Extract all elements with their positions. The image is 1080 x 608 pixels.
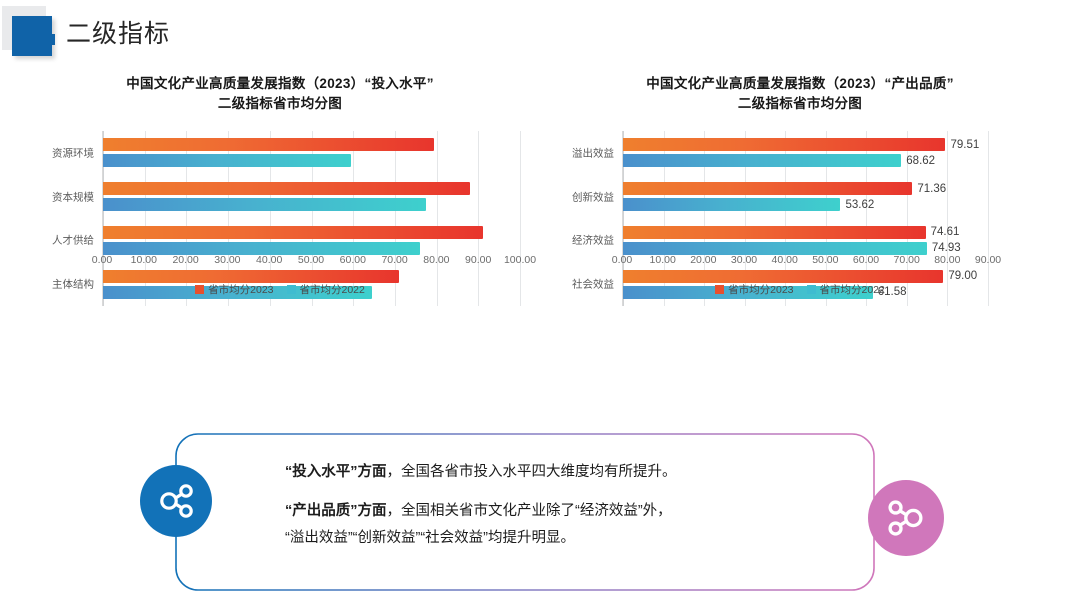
callout-section: “投入水平”方面，全国各省市投入水平四大维度均有所提升。 “产出品质”方面，全国… bbox=[140, 425, 960, 600]
legend-item[interactable]: 省市均分2023 bbox=[195, 282, 273, 297]
bar-省市均分2023 bbox=[103, 138, 434, 151]
bar-value-label: 74.93 bbox=[932, 242, 961, 254]
legend-label: 省市均分2023 bbox=[728, 282, 793, 297]
bar-省市均分2023 bbox=[623, 270, 943, 283]
category-axis-output-quality: 溢出效益创新效益经济效益社会效益 bbox=[550, 131, 618, 306]
axis-tick-label: 90.00 bbox=[465, 254, 491, 266]
callout-paragraph-2: “产出品质”方面，全国相关省市文化产业除了“经济效益”外， “溢出效益”“创新效… bbox=[285, 498, 845, 552]
bar-省市均分2023 bbox=[103, 182, 470, 195]
legend-label: 省市均分2022 bbox=[300, 282, 365, 297]
axis-tick-label: 30.00 bbox=[214, 254, 240, 266]
logo-dot-icon bbox=[44, 34, 55, 45]
axis-tick-label: 10.00 bbox=[131, 254, 157, 266]
page-header: 二级指标 bbox=[0, 0, 1080, 62]
category-label: 人才供给 bbox=[52, 233, 94, 248]
callout-p1-bold: “投入水平”方面 bbox=[285, 464, 387, 480]
chart-title-line-2: 二级指标省市均分图 bbox=[30, 94, 530, 114]
legend-item[interactable]: 省市均分2022 bbox=[287, 282, 365, 297]
bar-省市均分2023 bbox=[103, 226, 483, 239]
axis-tick-label: 80.00 bbox=[934, 254, 960, 266]
axis-tick-label: 40.00 bbox=[772, 254, 798, 266]
gridline bbox=[437, 131, 438, 306]
axis-tick-label: 60.00 bbox=[853, 254, 879, 266]
axis-tick-label: 50.00 bbox=[298, 254, 324, 266]
bar-value-label: 74.61 bbox=[931, 226, 960, 238]
gridline bbox=[520, 131, 521, 306]
category-label: 经济效益 bbox=[572, 233, 614, 248]
axis-tick-label: 80.00 bbox=[423, 254, 449, 266]
bar-value-label: 53.62 bbox=[845, 199, 874, 211]
share-nodes-icon-right bbox=[868, 480, 944, 556]
axis-tick-label: 20.00 bbox=[690, 254, 716, 266]
legend-swatch-icon bbox=[195, 285, 204, 294]
plot-area-input-level: 资源环境资本规模人才供给主体结构 bbox=[30, 131, 530, 306]
legend-item[interactable]: 省市均分2023 bbox=[715, 282, 793, 297]
callout-text: “投入水平”方面，全国各省市投入水平四大维度均有所提升。 “产出品质”方面，全国… bbox=[285, 459, 845, 552]
chart-title-line-2: 二级指标省市均分图 bbox=[550, 94, 1050, 114]
axis-tick-label: 90.00 bbox=[975, 254, 1001, 266]
bar-省市均分2022 bbox=[623, 154, 901, 167]
legend-swatch-icon bbox=[807, 285, 816, 294]
category-label: 溢出效益 bbox=[572, 145, 614, 160]
legend-label: 省市均分2022 bbox=[820, 282, 885, 297]
axis-tick-label: 100.00 bbox=[504, 254, 536, 266]
plot-area-output-quality: 溢出效益创新效益经济效益社会效益 79.5168.6271.3653.6274.… bbox=[550, 131, 1050, 306]
gridline bbox=[478, 131, 479, 306]
category-label: 资源环境 bbox=[52, 145, 94, 160]
axis-tick-label: 0.00 bbox=[92, 254, 112, 266]
bars-container-input-level bbox=[102, 131, 520, 306]
bar-value-label: 79.00 bbox=[948, 270, 977, 282]
bar-省市均分2022 bbox=[623, 198, 840, 211]
chart-panel-input-level: 中国文化产业高质量发展指数（2023）“投入水平” 二级指标省市均分图 资源环境… bbox=[30, 74, 530, 384]
category-axis-input-level: 资源环境资本规模人才供给主体结构 bbox=[30, 131, 98, 306]
bar-省市均分2023 bbox=[623, 138, 945, 151]
callout-p2-bold: “产出品质”方面 bbox=[285, 503, 387, 519]
bar-省市均分2022 bbox=[103, 154, 351, 167]
callout-paragraph-1: “投入水平”方面，全国各省市投入水平四大维度均有所提升。 bbox=[285, 459, 845, 486]
axis-tick-label: 70.00 bbox=[894, 254, 920, 266]
bar-省市均分2023 bbox=[623, 226, 926, 239]
axis-tick-label: 70.00 bbox=[381, 254, 407, 266]
axis-tick-label: 20.00 bbox=[172, 254, 198, 266]
category-label: 创新效益 bbox=[572, 189, 614, 204]
legend-swatch-icon bbox=[287, 285, 296, 294]
chart-panel-output-quality: 中国文化产业高质量发展指数（2023）“产出品质” 二级指标省市均分图 溢出效益… bbox=[550, 74, 1050, 384]
share-nodes-glyph bbox=[883, 495, 929, 541]
bar-省市均分2022 bbox=[103, 242, 420, 255]
bar-value-label: 68.62 bbox=[906, 155, 935, 167]
chart-title-line-1: 中国文化产业高质量发展指数（2023）“投入水平” bbox=[126, 76, 434, 91]
axis-tick-label: 10.00 bbox=[650, 254, 676, 266]
bar-省市均分2022 bbox=[103, 198, 426, 211]
legend-item[interactable]: 省市均分2022 bbox=[807, 282, 885, 297]
legend-swatch-icon bbox=[715, 285, 724, 294]
legend-label: 省市均分2023 bbox=[208, 282, 273, 297]
chart-title-line-1: 中国文化产业高质量发展指数（2023）“产出品质” bbox=[646, 76, 954, 91]
axis-tick-label: 40.00 bbox=[256, 254, 282, 266]
share-nodes-glyph bbox=[154, 479, 198, 523]
bar-value-label: 79.51 bbox=[950, 139, 979, 151]
callout-p1-rest: ，全国各省市投入水平四大维度均有所提升。 bbox=[387, 464, 677, 480]
chart-title-input-level: 中国文化产业高质量发展指数（2023）“投入水平” 二级指标省市均分图 bbox=[30, 74, 530, 114]
callout-p2-rest: ，全国相关省市文化产业除了“经济效益”外， bbox=[387, 503, 672, 519]
gridline bbox=[988, 131, 989, 306]
category-label: 资本规模 bbox=[52, 189, 94, 204]
share-nodes-icon-left bbox=[140, 465, 212, 537]
axis-tick-label: 50.00 bbox=[812, 254, 838, 266]
axis-tick-label: 30.00 bbox=[731, 254, 757, 266]
page-title: 二级指标 bbox=[66, 16, 170, 52]
bar-省市均分2023 bbox=[103, 270, 399, 283]
bar-省市均分2023 bbox=[623, 182, 912, 195]
axis-tick-label: 0.00 bbox=[612, 254, 632, 266]
chart-title-output-quality: 中国文化产业高质量发展指数（2023）“产出品质” 二级指标省市均分图 bbox=[550, 74, 1050, 114]
axis-tick-label: 60.00 bbox=[340, 254, 366, 266]
value-axis-input-level: 0.0010.0020.0030.0040.0050.0060.0070.008… bbox=[102, 254, 520, 270]
value-axis-output-quality: 0.0010.0020.0030.0040.0050.0060.0070.008… bbox=[622, 254, 988, 270]
bar-value-label: 71.36 bbox=[917, 183, 946, 195]
legend-input-level: 省市均分2023省市均分2022 bbox=[30, 282, 530, 297]
bars-container-output-quality: 79.5168.6271.3653.6274.6174.9379.0061.58 bbox=[622, 131, 988, 306]
legend-output-quality: 省市均分2023省市均分2022 bbox=[550, 282, 1050, 297]
bar-省市均分2022 bbox=[623, 242, 927, 255]
callout-p2-line-2: “溢出效益”“创新效益”“社会效益”均提升明显。 bbox=[285, 530, 575, 546]
